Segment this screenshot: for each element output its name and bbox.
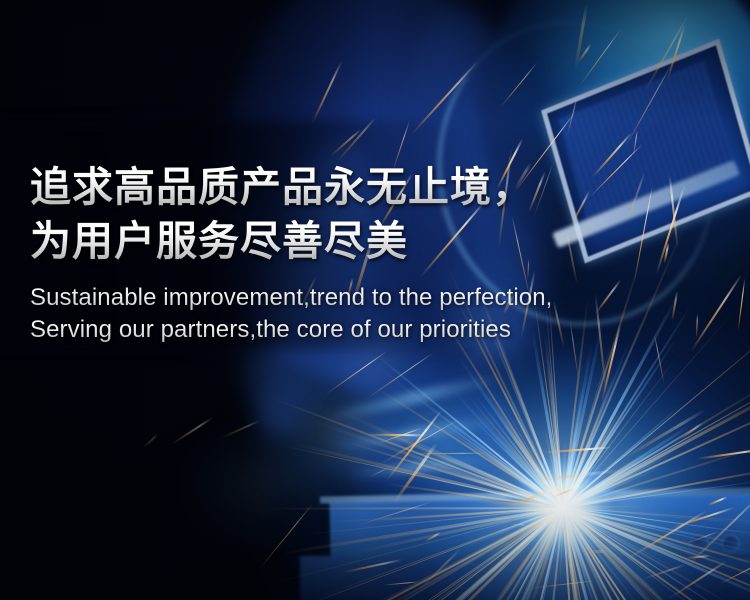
headline-cn-line-1: 追求高品质产品永无止境，: [30, 160, 720, 214]
bolt-hole-icon: [690, 534, 709, 553]
bolt-hole-icon: [721, 534, 740, 553]
headline-en-line-2: Serving our partners,the core of our pri…: [30, 314, 720, 346]
headline-cn-line-2: 为用户服务尽善尽美: [30, 214, 720, 268]
promo-banner: 追求高品质产品永无止境， 为用户服务尽善尽美 Sustainable impro…: [0, 0, 750, 600]
headline-en-line-1: Sustainable improvement,trend to the per…: [30, 282, 720, 314]
slogan-block: 追求高品质产品永无止境， 为用户服务尽善尽美 Sustainable impro…: [30, 160, 720, 346]
